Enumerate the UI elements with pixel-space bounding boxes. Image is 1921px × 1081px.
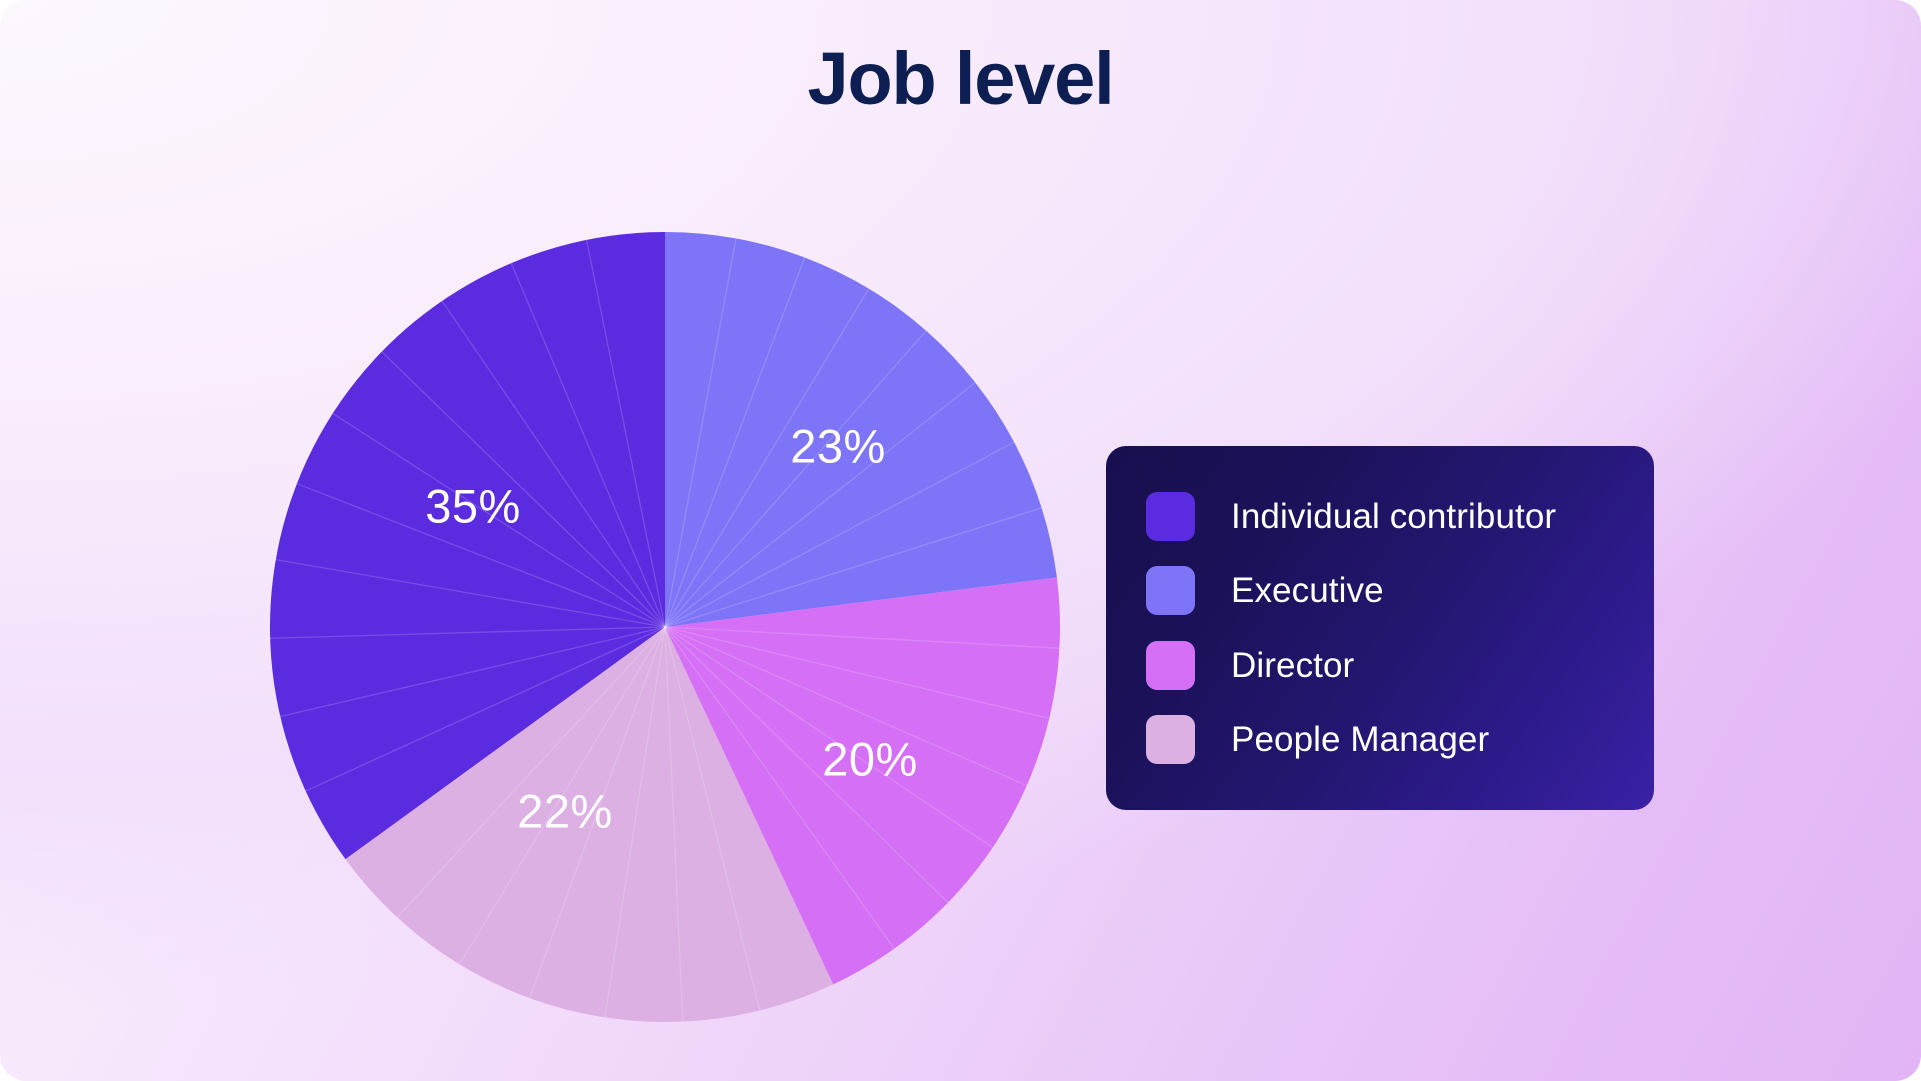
legend-item-label: Executive — [1231, 573, 1384, 608]
legend-item-label: People Manager — [1231, 722, 1489, 757]
pie-slice-label: 20% — [822, 732, 918, 785]
pie-chart: 23%20%22%35% — [270, 232, 1060, 1022]
legend-swatch-icon — [1146, 492, 1195, 541]
page-title: Job level — [0, 38, 1921, 119]
legend-item-label: Director — [1231, 648, 1354, 683]
legend-item[interactable]: People Manager — [1146, 714, 1654, 766]
pie-slice-label: 35% — [425, 479, 521, 532]
legend-item[interactable]: Individual contributor — [1146, 490, 1654, 542]
chart-legend: Individual contributorExecutiveDirectorP… — [1106, 446, 1654, 810]
legend-item-label: Individual contributor — [1231, 499, 1556, 534]
legend-swatch-icon — [1146, 566, 1195, 615]
pie-chart-svg: 23%20%22%35% — [270, 232, 1060, 1022]
legend-swatch-icon — [1146, 715, 1195, 764]
legend-item[interactable]: Executive — [1146, 565, 1654, 617]
pie-slice-label: 22% — [517, 784, 613, 837]
chart-canvas: Job level 23%20%22%35% Individual contri… — [0, 0, 1921, 1081]
legend-item[interactable]: Director — [1146, 639, 1654, 691]
legend-swatch-icon — [1146, 641, 1195, 690]
pie-slice-label: 23% — [790, 419, 886, 472]
